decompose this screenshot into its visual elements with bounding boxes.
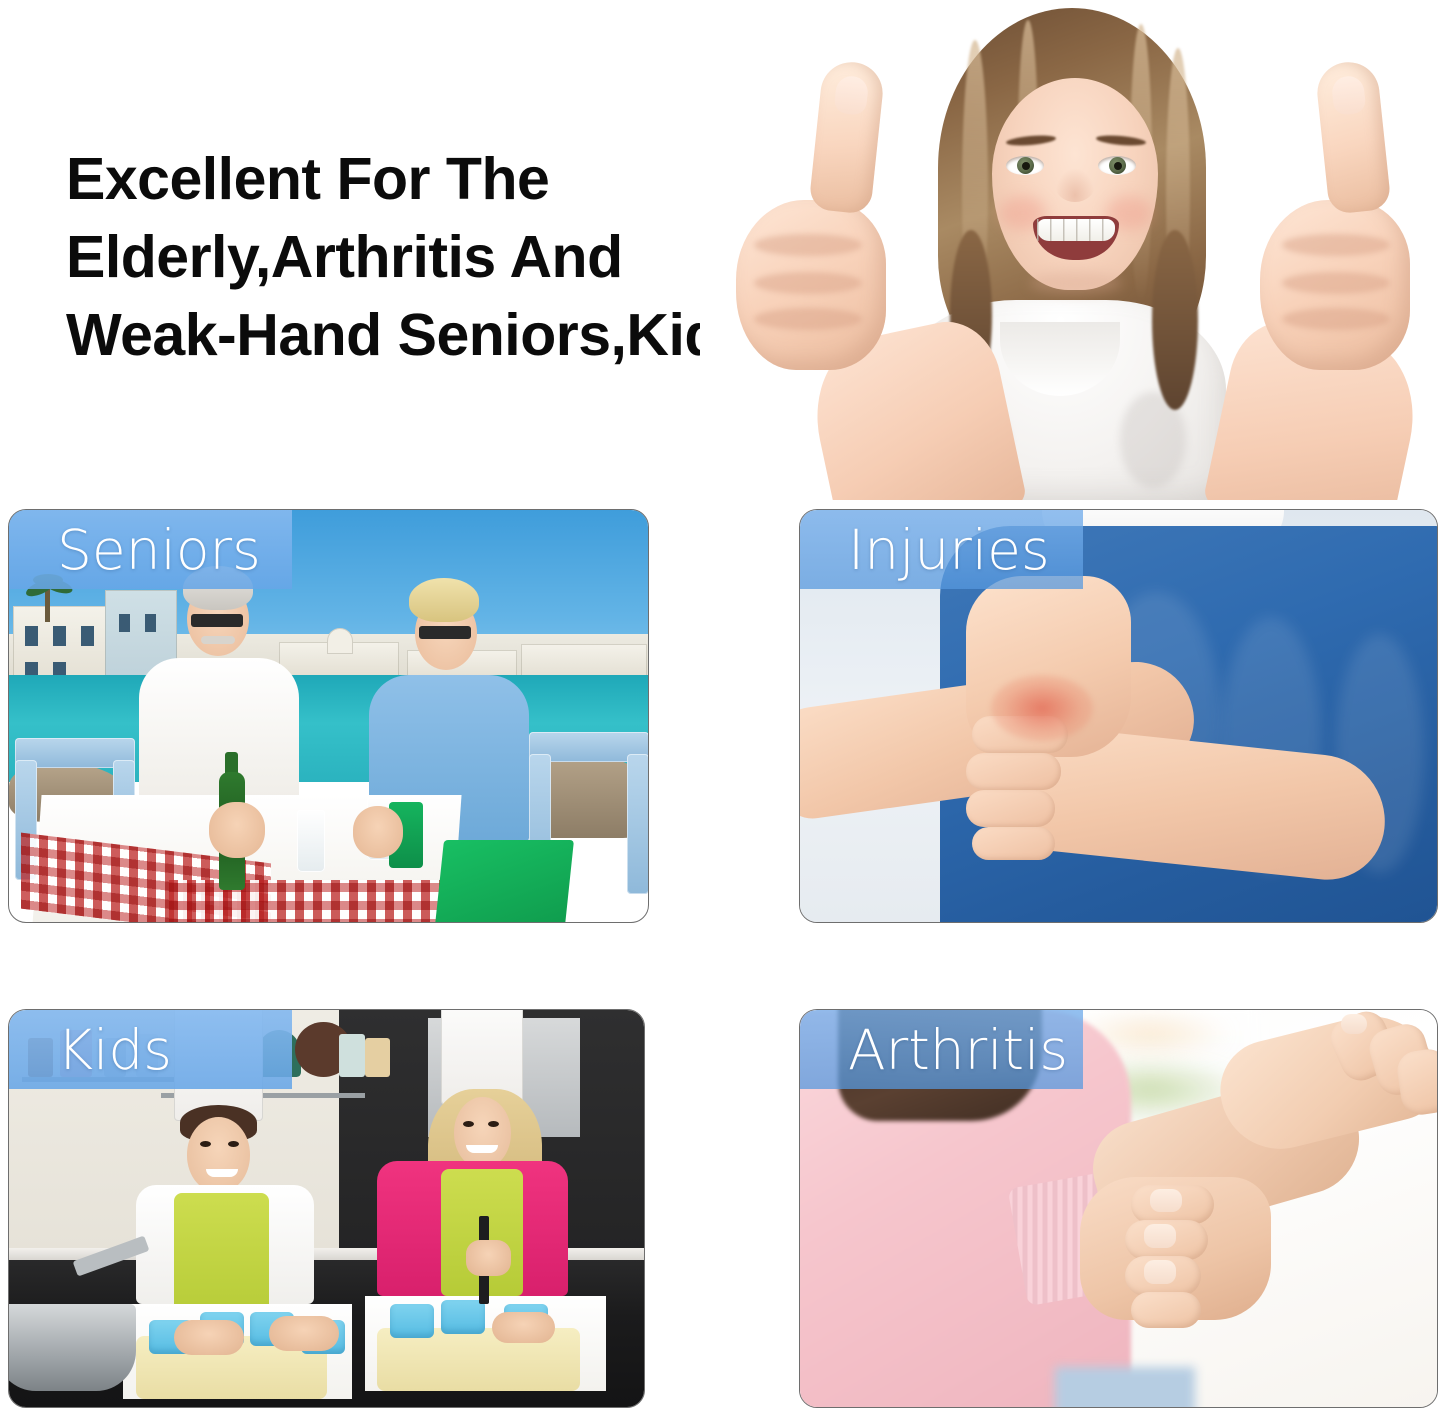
nose bbox=[1055, 168, 1095, 202]
pupil bbox=[1022, 162, 1030, 170]
knuckle-line bbox=[1282, 272, 1390, 294]
girl-thumbs-up-photo bbox=[700, 0, 1445, 500]
finger bbox=[972, 827, 1055, 860]
fingernail bbox=[1144, 1260, 1176, 1284]
card-label-injuries: Injuries bbox=[848, 517, 1050, 583]
pain-highlight bbox=[991, 675, 1093, 741]
chin-shadow bbox=[1030, 272, 1122, 294]
sunglasses bbox=[191, 614, 243, 627]
finger bbox=[1131, 1292, 1201, 1328]
feature-card-seniors[interactable]: Seniors bbox=[8, 509, 649, 923]
pupil bbox=[1114, 162, 1122, 170]
palm-trunk bbox=[45, 588, 50, 622]
woman-hand bbox=[353, 806, 403, 858]
teeth bbox=[1037, 219, 1115, 241]
spice-jar bbox=[365, 1038, 390, 1078]
girl-hand bbox=[492, 1312, 556, 1344]
right-thumb-up bbox=[1314, 59, 1391, 215]
church-dome bbox=[327, 628, 353, 654]
card-label-kids: Kids bbox=[57, 1017, 172, 1083]
thumbnail bbox=[1331, 75, 1367, 116]
hero-illustration bbox=[700, 0, 1445, 500]
knuckle-line bbox=[754, 272, 862, 294]
senior-woman-hair bbox=[409, 578, 479, 622]
eye bbox=[463, 1121, 474, 1127]
moustache bbox=[201, 636, 235, 644]
eye bbox=[1006, 156, 1044, 175]
smile bbox=[466, 1145, 498, 1153]
jar bbox=[339, 1034, 364, 1078]
thumbnail bbox=[833, 75, 869, 116]
knuckle-line bbox=[754, 234, 862, 256]
smile bbox=[206, 1169, 238, 1177]
metal-bowl bbox=[9, 1304, 136, 1391]
blue-cookie-cutter bbox=[390, 1304, 434, 1338]
window bbox=[53, 626, 66, 646]
window bbox=[81, 626, 94, 646]
hair-front-right bbox=[1152, 230, 1198, 410]
right-fist bbox=[1260, 200, 1410, 370]
sunglasses bbox=[419, 626, 471, 639]
green-bag bbox=[434, 840, 574, 922]
fingernail bbox=[1150, 1189, 1182, 1213]
eye bbox=[1098, 156, 1136, 175]
boy-face bbox=[187, 1117, 251, 1192]
iris bbox=[1017, 157, 1034, 174]
window bbox=[145, 614, 156, 632]
man-hand bbox=[209, 802, 265, 858]
girl-hand-holding-tool bbox=[466, 1240, 510, 1276]
card-label-seniors: Seniors bbox=[57, 517, 261, 583]
water-glass bbox=[297, 810, 325, 872]
finger bbox=[966, 753, 1062, 790]
boy-hand bbox=[174, 1320, 244, 1356]
jar bbox=[28, 1038, 53, 1078]
knuckle-line bbox=[1282, 234, 1390, 256]
blue-jeans-blur bbox=[1055, 1367, 1195, 1407]
fingernail bbox=[1341, 1014, 1366, 1034]
left-thumb-up bbox=[808, 59, 885, 215]
window bbox=[25, 626, 38, 646]
knuckle-line bbox=[1282, 308, 1390, 330]
girl-face bbox=[454, 1097, 511, 1168]
boy-hand bbox=[269, 1316, 339, 1352]
card-label-arthritis: Arthritis bbox=[848, 1017, 1068, 1083]
product-feature-infographic: Excellent For The Elderly,Arthritis And … bbox=[0, 0, 1445, 1417]
knuckle-line bbox=[754, 308, 862, 330]
finger bbox=[966, 790, 1055, 827]
feature-card-arthritis[interactable]: Arthritis bbox=[799, 1009, 1438, 1408]
left-fist bbox=[736, 200, 886, 370]
fingernail bbox=[1144, 1224, 1176, 1248]
feature-card-kids[interactable]: Kids bbox=[8, 1009, 645, 1408]
feature-card-injuries[interactable]: Injuries bbox=[799, 509, 1438, 923]
iris bbox=[1109, 157, 1126, 174]
blue-cookie-cutter bbox=[441, 1300, 485, 1334]
window bbox=[119, 614, 130, 632]
boy-green-apron bbox=[174, 1193, 269, 1320]
chair-leg bbox=[627, 754, 648, 894]
